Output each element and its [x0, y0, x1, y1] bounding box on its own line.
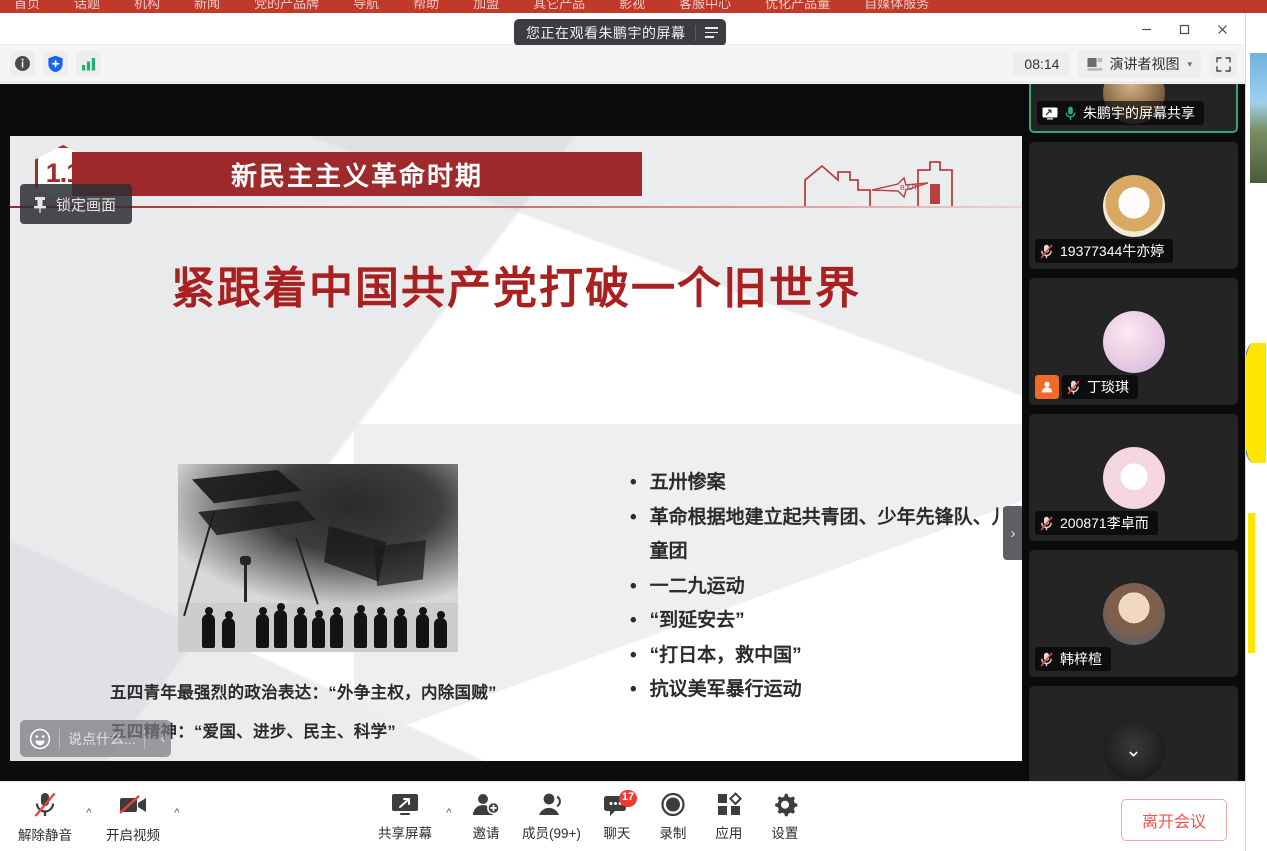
mic-muted-icon: [30, 790, 60, 820]
slide-bullet-item: • “打日本，救中国”: [630, 639, 1022, 674]
gear-icon: [770, 792, 800, 818]
chat-overlay-placeholder: 说点什么...: [68, 729, 136, 749]
window-controls: [1127, 13, 1241, 45]
participant-tile[interactable]: 朱鹏宇的屏幕共享: [1029, 84, 1238, 133]
svg-text:BJUT: BJUT: [900, 185, 918, 192]
participant-name: 丁琰琪: [1087, 377, 1129, 397]
background-window-sliver: [1245, 13, 1267, 851]
section-header-bar: 新民主主义革命时期: [72, 152, 642, 196]
mic-muted-icon: [1040, 652, 1053, 667]
record-button[interactable]: 录制: [645, 784, 701, 850]
historical-photo: [178, 464, 458, 652]
toolbar-left-group: 解除静音 ^ 开启视频 ^: [10, 782, 186, 851]
record-label: 录制: [659, 822, 686, 842]
bullet-dot: •: [630, 466, 637, 501]
mic-muted-icon: [1067, 380, 1080, 395]
chat-button[interactable]: 17 聊天: [589, 784, 645, 850]
participant-tile[interactable]: 200871李卓而: [1029, 414, 1238, 541]
invite-label: 邀请: [473, 822, 500, 842]
screen-share-icon: [1042, 107, 1058, 120]
banner-divider: [695, 25, 696, 41]
topbar-right-group: 08:14 演讲者视图 ▾: [1013, 45, 1237, 83]
view-mode-label: 演讲者视图: [1109, 54, 1179, 74]
share-screen-label: 共享屏幕: [378, 822, 432, 842]
smiley-icon: [29, 728, 51, 750]
bullet-text: 一二九运动: [650, 570, 1022, 605]
chevron-down-icon[interactable]: ⌄: [1125, 737, 1142, 762]
app-window: 您正在观看朱鹏宇的屏幕: [0, 13, 1245, 851]
chevron-down-icon: ▾: [1187, 59, 1192, 70]
share-status-text: 您正在观看朱鹏宇的屏幕: [526, 23, 686, 43]
participant-namebar: 朱鹏宇的屏幕共享: [1037, 101, 1204, 125]
bg-nav-item: 帮助: [413, 0, 439, 10]
background-yellow-bar: [1248, 513, 1255, 653]
invite-button[interactable]: 邀请: [458, 784, 514, 850]
bullet-dot: •: [630, 639, 637, 674]
close-button[interactable]: [1203, 13, 1241, 45]
minimize-button[interactable]: [1127, 13, 1165, 45]
participants-button[interactable]: 成员(99+): [514, 784, 589, 850]
background-browser-nav: 首页 话题 机构 新闻 党的产品牌 导航 帮助 加盟 其它产品 影视 客服中心 …: [0, 0, 1267, 13]
avatar: [1103, 447, 1165, 509]
video-options-caret[interactable]: ^: [168, 780, 186, 846]
skyline-decoration: BJUT: [800, 150, 1010, 210]
section-label: 新民主主义革命时期: [231, 156, 483, 193]
slide-bullet-item: • “到延安去”: [630, 604, 1022, 639]
background-photo: [1250, 53, 1267, 183]
slide-title-text: 紧跟着中国共产党打破一个旧世界: [171, 264, 861, 313]
bg-nav-item: 首页: [14, 0, 40, 10]
video-off-icon: [117, 790, 149, 820]
mic-muted-icon: [1040, 516, 1053, 531]
bullet-text: “打日本，救中国”: [650, 639, 1022, 674]
bullet-dot: •: [630, 570, 637, 605]
fullscreen-icon[interactable]: [1209, 51, 1237, 77]
avatar: [1103, 583, 1165, 645]
meeting-info-icons: [10, 51, 101, 76]
chat-overlay-divider: [59, 729, 60, 749]
slide-bullet-list: • 五卅惨案 • 革命根据地建立起共青团、少年先锋队、儿童团 • 一二九运动: [630, 466, 1022, 708]
bg-nav-item: 新闻: [194, 0, 220, 10]
apps-label: 应用: [715, 822, 742, 842]
leave-meeting-button[interactable]: 离开会议: [1121, 799, 1227, 841]
apps-grid-icon: [714, 792, 744, 818]
participant-namebar: 200871李卓而: [1035, 511, 1158, 535]
screen-share-icon: [390, 792, 420, 818]
shared-screen-stage: 1.1 新民主主义革命时期 BJUT 紧跟着中国共产党打破一个旧世: [0, 84, 1022, 781]
bottom-toolbar: 解除静音 ^ 开启视频 ^: [0, 781, 1245, 851]
bullet-text: 五卅惨案: [650, 466, 1022, 501]
bg-nav-item: 影视: [619, 0, 645, 10]
share-status-banner: 您正在观看朱鹏宇的屏幕: [514, 19, 726, 46]
bg-nav-item: 客服中心: [679, 0, 731, 10]
record-circle-icon: [658, 792, 688, 818]
info-icon[interactable]: [10, 51, 35, 76]
invite-person-icon: [471, 792, 501, 818]
mute-toggle-label: 解除静音: [18, 824, 72, 844]
participant-namebar: 韩梓楦: [1035, 647, 1111, 671]
maximize-button[interactable]: [1165, 13, 1203, 45]
bullet-dot: •: [630, 604, 637, 639]
participant-tile[interactable]: 丁琰琪: [1029, 278, 1238, 405]
shield-add-icon[interactable]: [43, 51, 68, 76]
chevron-right-icon[interactable]: ›: [1003, 506, 1022, 560]
speaker-view-icon: [1087, 57, 1103, 72]
chat-label: 聊天: [603, 822, 630, 842]
mic-unmuted-icon: [1065, 106, 1076, 121]
host-person-icon: [1040, 380, 1054, 394]
chat-unread-badge: 17: [619, 790, 637, 807]
bg-nav-item: 党的产品牌: [254, 0, 319, 10]
bg-nav-item: 加盟: [473, 0, 499, 10]
participant-namebar: 丁琰琪: [1062, 375, 1138, 399]
settings-label: 设置: [771, 822, 798, 842]
participants-rail[interactable]: 朱鹏宇的屏幕共享 19377344牛亦婷: [1022, 84, 1245, 781]
participants-icon: [536, 792, 566, 818]
chat-overlay-input[interactable]: 说点什么... ‹: [20, 720, 171, 757]
participant-tile[interactable]: ⌄: [1029, 686, 1238, 781]
lock-screen-button[interactable]: 锁定画面: [20, 184, 132, 224]
bg-nav-item: 自媒体服务: [864, 0, 929, 10]
apps-button[interactable]: 应用: [701, 784, 757, 850]
meeting-top-toolbar: 08:14 演讲者视图 ▾: [0, 45, 1245, 83]
avatar: [1103, 175, 1165, 237]
meeting-timer: 08:14: [1013, 52, 1070, 76]
participant-name: 韩梓楦: [1060, 649, 1102, 669]
slide-bullet-item: • 一二九运动: [630, 570, 1022, 605]
bullet-text: 抗议美军暴行运动: [650, 673, 1022, 708]
main-content: 1.1 新民主主义革命时期 BJUT 紧跟着中国共产党打破一个旧世: [0, 84, 1245, 781]
background-nav-items: 首页 话题 机构 新闻 党的产品牌 导航 帮助 加盟 其它产品 影视 客服中心 …: [0, 0, 1267, 10]
participant-tile[interactable]: 19377344牛亦婷: [1029, 142, 1238, 269]
bg-nav-item: 优化产品量: [765, 0, 830, 10]
mute-toggle-button[interactable]: 解除静音: [10, 784, 80, 850]
bg-nav-item: 导航: [353, 0, 379, 10]
bg-nav-item: 机构: [134, 0, 160, 10]
video-toggle-label: 开启视频: [106, 824, 160, 844]
chat-overlay-divider-2: [144, 729, 145, 749]
participant-name: 200871李卓而: [1060, 513, 1149, 533]
bullet-text: 革命根据地建立起共青团、少年先锋队、儿童团: [650, 501, 1022, 570]
view-mode-selector[interactable]: 演讲者视图 ▾: [1078, 50, 1201, 78]
mic-muted-icon: [1040, 244, 1053, 259]
background-yellow-shape: [1245, 343, 1266, 463]
leave-meeting-label: 离开会议: [1142, 814, 1206, 831]
signal-bars-icon[interactable]: [76, 51, 101, 76]
title-bar: 您正在观看朱鹏宇的屏幕: [0, 13, 1245, 45]
mic-options-caret[interactable]: ^: [80, 780, 98, 846]
meeting-window: 首页 话题 机构 新闻 党的产品牌 导航 帮助 加盟 其它产品 影视 客服中心 …: [0, 0, 1267, 851]
hamburger-icon[interactable]: [703, 25, 720, 40]
video-toggle-button[interactable]: 开启视频: [98, 784, 168, 850]
toolbar-center-group: 共享屏幕 ^ 邀请: [370, 782, 813, 851]
avatar: [1103, 311, 1165, 373]
slide-title: 紧跟着中国共产党打破一个旧世界: [10, 252, 1022, 316]
participant-tile[interactable]: 韩梓楦: [1029, 550, 1238, 677]
pin-icon: [33, 196, 47, 213]
share-screen-button[interactable]: 共享屏幕: [370, 784, 440, 850]
settings-button[interactable]: 设置: [757, 784, 813, 850]
slide-bullet-item: • 革命根据地建立起共青团、少年先锋队、儿童团: [630, 501, 1022, 570]
bg-nav-item: 话题: [74, 0, 100, 10]
bullet-dot: •: [630, 501, 637, 536]
participant-name: 朱鹏宇的屏幕共享: [1083, 103, 1195, 123]
slide-bullet-item: • 五卅惨案: [630, 466, 1022, 501]
slide-bullet-item: • 抗议美军暴行运动: [630, 673, 1022, 708]
presentation-slide: 1.1 新民主主义革命时期 BJUT 紧跟着中国共产党打破一个旧世: [10, 136, 1022, 761]
participant-namebar: 19377344牛亦婷: [1035, 239, 1173, 263]
host-badge: [1035, 375, 1059, 399]
participant-name: 19377344牛亦婷: [1060, 241, 1164, 261]
slide-caption-1: 五四青年最强烈的政治表达：“外争主权，内除国贼”: [110, 679, 497, 703]
bullet-dot: •: [630, 673, 637, 708]
share-options-caret[interactable]: ^: [440, 780, 458, 846]
bullet-text: “到延安去”: [650, 604, 1022, 639]
lock-screen-label: 锁定画面: [56, 194, 116, 215]
participants-label: 成员(99+): [522, 822, 581, 842]
bg-nav-item: 其它产品: [533, 0, 585, 10]
chat-send-icon[interactable]: ‹: [161, 731, 165, 746]
